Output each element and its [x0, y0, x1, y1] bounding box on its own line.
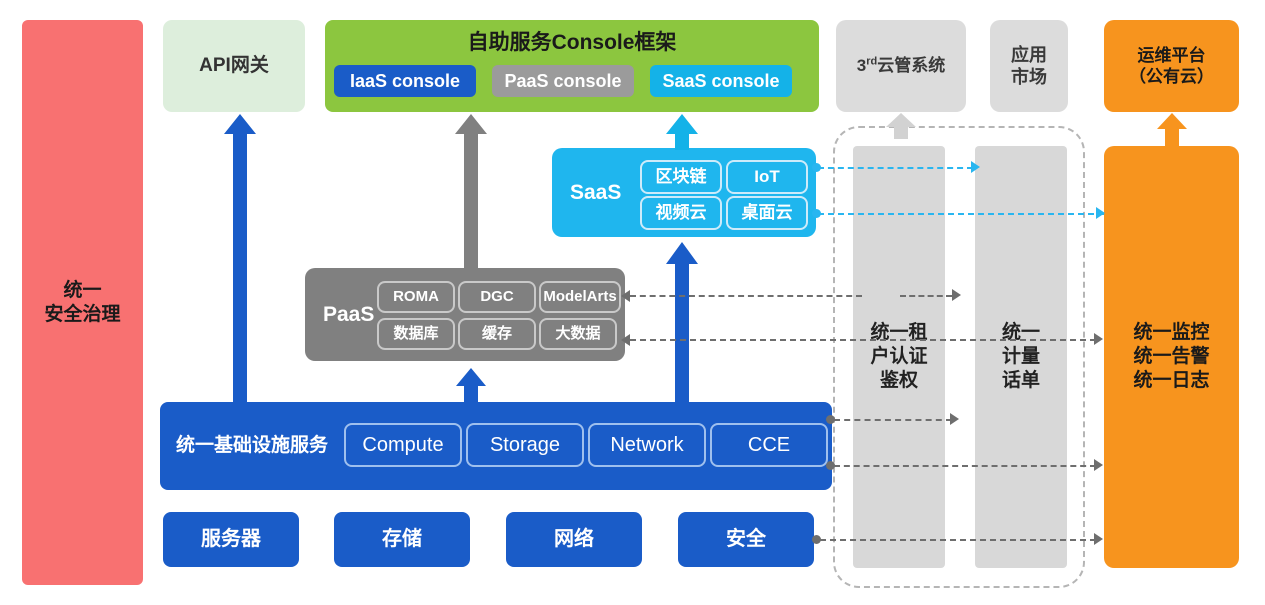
paas-item-bigdata[interactable]: 大数据: [539, 318, 617, 350]
arrow-saas-to-console: [666, 114, 698, 150]
saas-item-blockchain-label: 区块链: [656, 166, 707, 187]
arrowhead-paas-lower-left: [621, 334, 630, 346]
paas-item-roma[interactable]: ROMA: [377, 281, 455, 313]
chip-paas-label: PaaS console: [504, 70, 621, 93]
ops-platform-line1: 运维平台: [1138, 45, 1206, 66]
paas-item-bigdata-label: 大数据: [555, 325, 600, 344]
unified-security-governance-column: 统一 安全治理: [22, 20, 143, 585]
resource-storage-label: 存储: [382, 527, 422, 552]
saas-block-label: SaaS: [570, 179, 621, 205]
dashed-paas-to-ops: [630, 339, 1096, 341]
arrowhead-infra-lower: [1094, 459, 1103, 471]
infra-item-cce-label: CCE: [748, 433, 790, 458]
arrowhead-paas-upper-left: [621, 290, 630, 302]
ops-column-line1: 统一监控: [1133, 321, 1209, 345]
saas-item-desktop-cloud-label: 桌面云: [742, 202, 793, 223]
dashed-resources-to-ops: [820, 539, 1096, 541]
chip-iaas-console[interactable]: IaaS console: [334, 65, 476, 97]
dashed-saas-to-ops: [818, 213, 1104, 215]
infrastructure-label: 统一基础设施服务: [176, 434, 328, 458]
ops-column-line3: 统一日志: [1133, 369, 1209, 393]
paas-item-cache[interactable]: 缓存: [458, 318, 536, 350]
saas-item-desktop-cloud[interactable]: 桌面云: [726, 196, 808, 230]
api-gateway-box[interactable]: API网关: [163, 20, 305, 112]
paas-item-cache-label: 缓存: [482, 325, 512, 344]
paas-block-label: PaaS: [323, 301, 374, 327]
ops-platform-line2: （公有云）: [1129, 66, 1214, 87]
saas-item-video-cloud[interactable]: 视频云: [640, 196, 722, 230]
saas-item-iot[interactable]: IoT: [726, 160, 808, 194]
self-service-console-frame: 自助服务Console框架 IaaS console PaaS console …: [325, 20, 819, 112]
dashed-auth-to-billing-upper: [900, 295, 952, 297]
arrow-infra-to-api-gateway: [224, 114, 256, 404]
unified-infrastructure-service-bar: 统一基础设施服务 Compute Storage Network CCE: [160, 402, 832, 490]
chip-paas-console[interactable]: PaaS console: [492, 65, 634, 97]
paas-item-dgc[interactable]: DGC: [458, 281, 536, 313]
governance-label-line2: 安全治理: [44, 303, 120, 327]
chip-saas-label: SaaS console: [662, 70, 779, 93]
dashed-saas-to-auth-upper: [818, 167, 973, 169]
arrow-infra-to-saas: [666, 242, 698, 404]
infra-item-storage[interactable]: Storage: [466, 423, 584, 467]
billing-line2: 计量: [1002, 345, 1040, 369]
arrow-ops-column-to-ops-top: [1157, 113, 1187, 149]
arrowhead-paas-upper-right: [952, 289, 961, 301]
unified-tenant-auth-column: 统一租 户认证 鉴权: [853, 146, 945, 568]
architecture-diagram: 统一 安全治理 API网关 自助服务Console框架 IaaS console…: [0, 0, 1265, 605]
infra-item-compute-label: Compute: [362, 433, 443, 458]
tenant-auth-line3: 鉴权: [880, 369, 918, 393]
resource-box-storage[interactable]: 存储: [334, 512, 470, 567]
resource-security-label: 安全: [726, 527, 766, 552]
resource-box-network[interactable]: 网络: [506, 512, 642, 567]
infra-item-network[interactable]: Network: [588, 423, 706, 467]
ops-column-line2: 统一告警: [1133, 345, 1209, 369]
arrowhead-saas-lower: [1096, 207, 1105, 219]
infra-item-network-label: Network: [610, 433, 683, 458]
tenant-auth-line2: 户认证: [870, 345, 927, 369]
resource-box-server[interactable]: 服务器: [163, 512, 299, 567]
chip-iaas-label: IaaS console: [350, 70, 460, 93]
resource-box-security[interactable]: 安全: [678, 512, 814, 567]
paas-item-dgc-label: DGC: [480, 288, 513, 307]
paas-item-modelarts-label: ModelArts: [543, 288, 616, 307]
arrowhead-paas-lower-right: [1094, 333, 1103, 345]
dashed-infra-to-ops: [834, 465, 1096, 467]
third-party-cloud-management-box[interactable]: 3rd云管系统: [836, 20, 966, 112]
infra-item-storage-label: Storage: [490, 433, 560, 458]
dashed-infra-to-auth: [834, 419, 952, 421]
infra-item-cce[interactable]: CCE: [710, 423, 828, 467]
application-market-line2: 市场: [1011, 66, 1047, 89]
resource-network-label: 网络: [554, 527, 594, 552]
ops-platform-public-cloud-box[interactable]: 运维平台 （公有云）: [1104, 20, 1239, 112]
arrowhead-infra-upper: [950, 413, 959, 425]
paas-item-database[interactable]: 数据库: [377, 318, 455, 350]
billing-line3: 话单: [1002, 369, 1040, 393]
saas-item-blockchain[interactable]: 区块链: [640, 160, 722, 194]
unified-monitoring-column: 统一监控 统一告警 统一日志: [1104, 146, 1239, 568]
chip-saas-console[interactable]: SaaS console: [650, 65, 792, 97]
paas-block: PaaS ROMA DGC ModelArts 数据库 缓存 大数据: [305, 268, 625, 361]
dashed-paas-to-auth-upper: [630, 295, 862, 297]
arrowhead-resources: [1094, 533, 1103, 545]
paas-item-database-label: 数据库: [393, 325, 438, 344]
saas-item-video-cloud-label: 视频云: [656, 202, 707, 223]
unified-billing-column: 统一 计量 话单: [975, 146, 1067, 568]
paas-item-roma-label: ROMA: [393, 288, 439, 307]
arrowhead-saas-upper: [971, 161, 980, 173]
api-gateway-label: API网关: [199, 54, 269, 78]
resource-server-label: 服务器: [201, 527, 261, 552]
governance-label-line1: 统一: [63, 279, 101, 303]
console-frame-title: 自助服务Console框架: [325, 30, 819, 56]
third-party-cloud-management-label: 3rd云管系统: [857, 55, 945, 76]
application-market-box[interactable]: 应用 市场: [990, 20, 1068, 112]
arrow-shared-to-third-party: [886, 113, 916, 139]
arrow-infra-to-paas: [456, 368, 486, 404]
saas-block: SaaS 区块链 IoT 视频云 桌面云: [552, 148, 816, 237]
application-market-line1: 应用: [1011, 44, 1047, 67]
arrow-paas-to-console: [455, 114, 487, 270]
paas-item-modelarts[interactable]: ModelArts: [539, 281, 621, 313]
billing-line1: 统一: [1002, 321, 1040, 345]
tenant-auth-line1: 统一租: [870, 321, 927, 345]
saas-item-iot-label: IoT: [754, 166, 780, 187]
infra-item-compute[interactable]: Compute: [344, 423, 462, 467]
